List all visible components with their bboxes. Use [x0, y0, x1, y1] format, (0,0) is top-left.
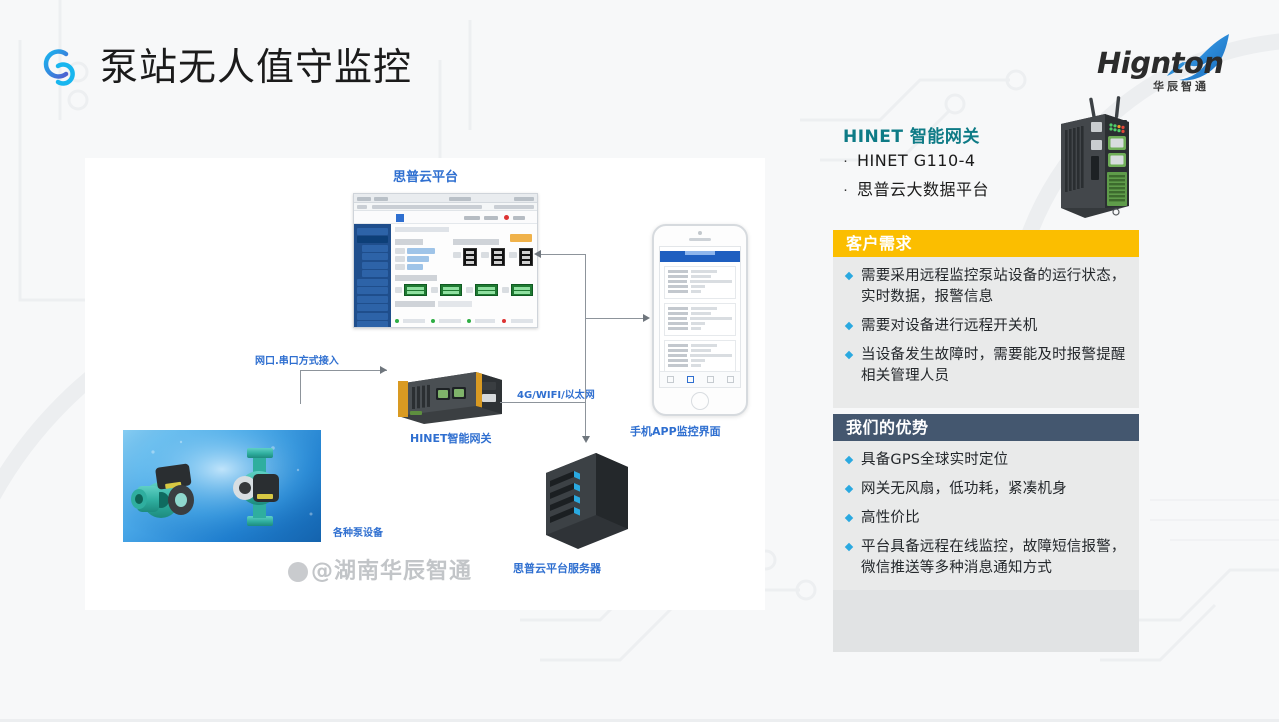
phone-app-header [660, 251, 740, 262]
list-item: 高性价比 [843, 508, 1129, 529]
diamond-bullet-icon [845, 485, 853, 493]
list-item: 平台具备远程在线监控，故障短信报警，微信推送等多种消息通知方式 [843, 537, 1129, 579]
advantages-heading: 我们的优势 [833, 414, 1139, 441]
arrow-icon [380, 366, 387, 374]
dual-circle-logo-icon [36, 42, 88, 94]
gateway-info-list: · HINET G110-4 · 思普云大数据平台 [843, 148, 989, 206]
cloud-dashboard-mock [353, 193, 538, 328]
label-uplink: 4G/WIFI/以太网 [517, 386, 595, 401]
connector-line [585, 318, 647, 319]
phone-app-mock [652, 224, 748, 416]
phone-speaker-icon [689, 238, 711, 241]
bullet-icon: · [843, 177, 857, 203]
phone-tab-1[interactable] [660, 372, 680, 387]
list-item: 具备GPS全球实时定位 [843, 450, 1129, 471]
bullet-icon: · [843, 148, 857, 174]
architecture-diagram-card: 思普云平台 [85, 158, 765, 610]
brand-name: Hignton [1097, 46, 1224, 80]
diamond-bullet-icon [845, 456, 853, 464]
gateway-product-photo [1047, 96, 1135, 226]
phone-tab-3[interactable] [700, 372, 720, 387]
gateway-info-title: HINET 智能网关 [843, 122, 980, 147]
customer-needs-heading: 客户需求 [833, 230, 1139, 257]
list-item [664, 266, 736, 299]
panel-spacer [833, 590, 1139, 652]
diamond-bullet-icon [845, 351, 853, 359]
list-item: · 思普云大数据平台 [843, 177, 989, 203]
diamond-bullet-icon [845, 322, 853, 330]
arrow-icon [643, 314, 650, 322]
phone-camera-icon [698, 231, 702, 235]
pump-equipment-image [123, 430, 321, 542]
cloud-server-image [540, 443, 632, 553]
label-server: 思普云平台服务器 [513, 560, 601, 576]
diamond-bullet-icon [845, 514, 853, 522]
list-item: 需要对设备进行远程开关机 [843, 316, 1129, 337]
list-item [664, 303, 736, 336]
phone-home-button-icon[interactable] [691, 392, 709, 410]
diamond-bullet-icon [845, 543, 853, 551]
list-item: 需要采用远程监控泵站设备的运行状态，实时数据，报警信息 [843, 266, 1129, 308]
phone-tab-bar[interactable] [660, 371, 740, 387]
panel-spacer [833, 398, 1139, 408]
advantages-panel: 我们的优势 具备GPS全球实时定位 网关无风扇，低功耗，紧凑机身 高性价比 平台… [833, 414, 1139, 652]
connector-line [300, 370, 301, 404]
label-pumps: 各种泵设备 [333, 524, 383, 539]
list-item [664, 340, 736, 373]
label-gateway-link: 网口.串口方式接入 [255, 352, 339, 367]
list-item: · HINET G110-4 [843, 148, 989, 174]
connector-line [585, 402, 586, 438]
connector-line [300, 370, 387, 371]
list-item: 当设备发生故障时，需要能及时报警提醒相关管理人员 [843, 345, 1129, 387]
label-gateway: HINET智能网关 [410, 430, 492, 446]
list-item: 网关无风扇，低功耗，紧凑机身 [843, 479, 1129, 500]
arrow-icon [582, 436, 590, 443]
right-column: HINET 智能网关 · HINET G110-4 · 思普云大数据平台 [833, 110, 1143, 652]
gateway-device-image [390, 366, 508, 428]
diamond-bullet-icon [845, 272, 853, 280]
gateway-info-block: HINET 智能网关 · HINET G110-4 · 思普云大数据平台 [833, 110, 1143, 230]
label-phone-app: 手机APP监控界面 [630, 423, 721, 439]
customer-needs-panel: 客户需求 需要采用远程监控泵站设备的运行状态，实时数据，报警信息 需要对设备进行… [833, 230, 1139, 408]
weibo-icon [288, 562, 308, 582]
arrow-icon [534, 250, 541, 258]
phone-tab-4[interactable] [720, 372, 740, 387]
phone-tab-2[interactable] [680, 372, 700, 387]
weibo-watermark: @湖南华辰智通 [285, 553, 472, 585]
connector-line [540, 254, 586, 255]
connector-line [500, 402, 585, 403]
brand-subtitle: 华辰智通 [1153, 78, 1209, 94]
page-title: 泵站无人值守监控 [100, 40, 412, 94]
dashboard-sidebar[interactable] [354, 224, 391, 327]
brand-logo: Hignton 华辰智通 [1097, 32, 1237, 94]
label-cloud-platform: 思普云平台 [393, 166, 458, 185]
